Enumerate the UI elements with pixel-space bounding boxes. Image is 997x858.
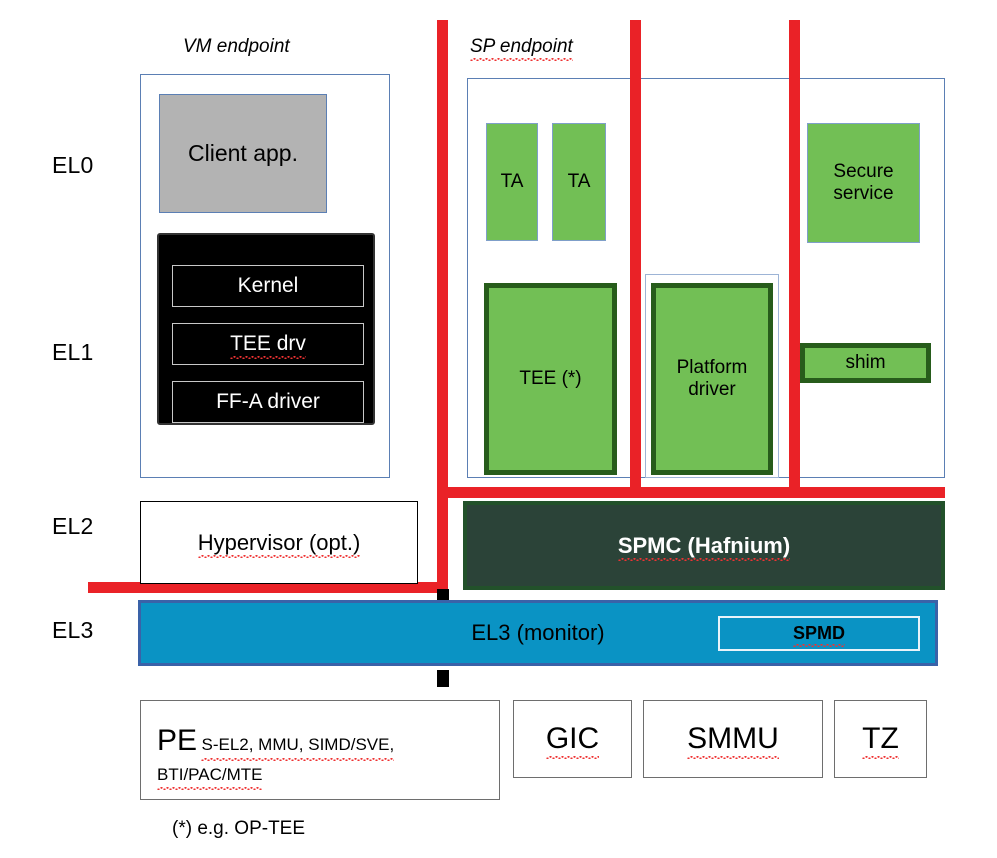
connector-square-bottom [437, 670, 449, 687]
ta-label-1: TA [501, 171, 524, 193]
stack-item-tee-drv[interactable]: TEE drv [172, 323, 364, 365]
el-label-el1: EL1 [52, 339, 94, 366]
vm-os-stack: Kernel TEE drv FF-A driver [157, 233, 375, 425]
red-boundary-vm-sp [437, 20, 448, 593]
ffa-driver-label: FF-A driver [216, 390, 320, 414]
trusted-app-box-2[interactable]: TA [552, 123, 606, 241]
shim-box[interactable]: shim [800, 343, 931, 383]
hypervisor-label: Hypervisor (opt.) [198, 530, 361, 555]
hypervisor-box[interactable]: Hypervisor (opt.) [140, 501, 418, 584]
el-label-el0: EL0 [52, 152, 94, 179]
tz-label: TZ [862, 722, 899, 757]
spmc-label: SPMC (Hafnium) [618, 533, 790, 558]
secure-service-box[interactable]: Secure service [807, 123, 920, 243]
spmc-box[interactable]: SPMC (Hafnium) [463, 501, 945, 590]
smmu-box[interactable]: SMMU [643, 700, 823, 778]
client-app-label: Client app. [188, 140, 298, 166]
secure-service-label: Secure service [833, 161, 893, 205]
el-label-el2: EL2 [52, 513, 94, 540]
spmd-label: SPMD [793, 623, 845, 644]
pe-box[interactable]: PE S-EL2, MMU, SIMD/SVE, BTI/PAC/MTE [140, 700, 500, 800]
tee-drv-label: TEE drv [230, 332, 306, 356]
platform-driver-label: Platform driver [677, 357, 748, 401]
tee-label: TEE (*) [519, 368, 581, 390]
red-boundary-partition-2 [789, 20, 800, 497]
ta-label-2: TA [568, 171, 591, 193]
stack-item-ffa-driver[interactable]: FF-A driver [172, 381, 364, 423]
gic-box[interactable]: GIC [513, 700, 632, 778]
trusted-app-box-1[interactable]: TA [486, 123, 538, 241]
gic-label: GIC [546, 722, 599, 757]
tz-box[interactable]: TZ [834, 700, 927, 778]
pe-features-line2: BTI/PAC/MTE [157, 763, 262, 788]
pe-features-line1: S-EL2, MMU, SIMD/SVE, [201, 733, 394, 758]
spmd-box[interactable]: SPMD [718, 616, 920, 651]
vm-endpoint-caption: VM endpoint [183, 36, 290, 58]
el-label-el3: EL3 [52, 617, 94, 644]
client-app-box[interactable]: Client app. [159, 94, 327, 213]
red-boundary-partition-1 [630, 20, 641, 497]
el3-monitor-label: EL3 (monitor) [471, 620, 604, 645]
smmu-label: SMMU [687, 722, 779, 757]
footnote-text: (*) e.g. OP-TEE [172, 818, 305, 840]
stack-item-kernel[interactable]: Kernel [172, 265, 364, 307]
pe-name: PE [157, 724, 197, 757]
sp-endpoint-caption: SP endpoint [470, 36, 573, 58]
kernel-label: Kernel [238, 274, 299, 298]
shim-label: shim [845, 352, 885, 374]
pe-text-block: PE S-EL2, MMU, SIMD/SVE, BTI/PAC/MTE [157, 719, 489, 787]
red-boundary-spmc-top [437, 487, 945, 498]
tee-box[interactable]: TEE (*) [484, 283, 617, 475]
architecture-diagram: EL0 EL1 EL2 EL3 VM endpoint SP endpoint … [0, 0, 997, 858]
platform-driver-box[interactable]: Platform driver [651, 283, 773, 475]
